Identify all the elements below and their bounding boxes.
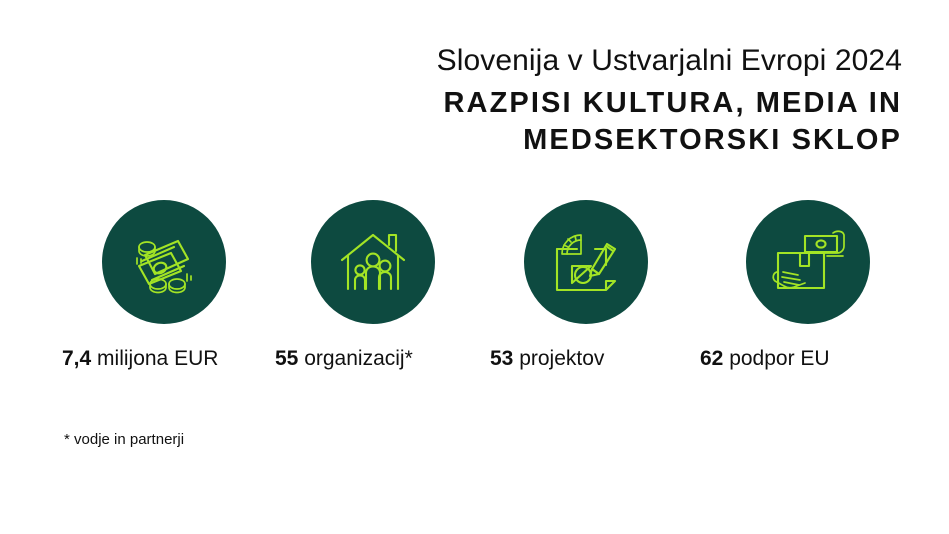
footnote-text: * vodje in partnerji [64, 430, 184, 450]
banknotes-coins-icon [127, 225, 201, 299]
hands-money-exchange-icon [771, 225, 845, 299]
stat-unit-organisations: organizacij* [298, 347, 412, 370]
stats-row: 7,4 milijona EUR [0, 200, 949, 380]
stat-number-funding: 7,4 [62, 347, 91, 370]
stat-label-organisations: 55 organizacij* [275, 346, 487, 372]
stat-item-funding: 7,4 milijona EUR [62, 200, 274, 372]
heading-subtitle: Slovenija v Ustvarjalni Evropi 2024 [0, 42, 902, 80]
stat-unit-projects: projektov [513, 347, 604, 370]
stat-badge-eu-support [746, 200, 870, 324]
stat-number-organisations: 55 [275, 347, 298, 370]
stat-number-eu-support: 62 [700, 347, 723, 370]
stat-label-funding: 7,4 milijona EUR [62, 346, 274, 372]
stat-unit-eu-support: podpor EU [723, 347, 829, 370]
heading-title-line-1: RAZPISI KULTURA, MEDIA IN [0, 86, 902, 120]
stat-item-organisations: 55 organizacij* [275, 200, 487, 372]
heading-title-line-2: MEDSEKTORSKI SKLOP [0, 123, 902, 157]
stat-badge-organisations [311, 200, 435, 324]
stat-label-eu-support: 62 podpor EU [700, 346, 912, 372]
pencil-protractor-icon [549, 225, 623, 299]
stat-item-eu-support: 62 podpor EU [700, 200, 912, 372]
stat-number-projects: 53 [490, 347, 513, 370]
stat-badge-projects [524, 200, 648, 324]
house-family-icon [336, 225, 410, 299]
stat-unit-funding: milijona EUR [91, 347, 218, 370]
stat-label-projects: 53 projektov [490, 346, 702, 372]
poster-heading: Slovenija v Ustvarjalni Evropi 2024 RAZP… [0, 42, 902, 157]
infographic-poster: Slovenija v Ustvarjalni Evropi 2024 RAZP… [0, 0, 949, 534]
stat-badge-funding [102, 200, 226, 324]
stat-item-projects: 53 projektov [490, 200, 702, 372]
